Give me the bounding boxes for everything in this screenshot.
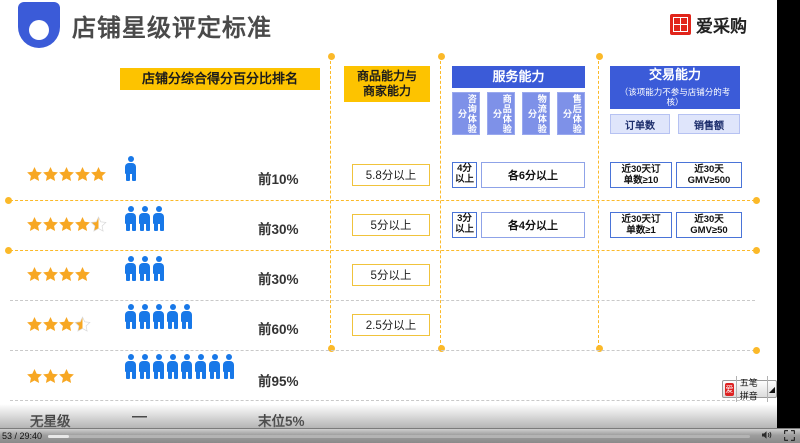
fullscreen-icon[interactable]	[778, 430, 800, 443]
person-icon	[138, 206, 151, 231]
header-trade-ability: 交易能力 （该项能力不参与店铺分的考核）	[610, 66, 740, 109]
star-icon	[58, 216, 75, 233]
header-service-title: 服务能力	[492, 69, 544, 85]
brand-name: 爱采购	[696, 12, 747, 37]
people-icons	[124, 156, 138, 181]
star-icon	[74, 166, 91, 183]
person-icon	[124, 256, 137, 281]
service-consult-requirement: 3分 以上	[452, 212, 477, 238]
person-icon	[208, 354, 221, 379]
screen: 店铺星级评定标准 爱采购 店铺分综合得分百分比排名 商品能力与 商家能力 服务能…	[0, 0, 800, 442]
progress-bar[interactable]	[48, 435, 750, 438]
star-icon	[42, 216, 59, 233]
person-icon	[180, 354, 193, 379]
person-icon	[180, 304, 193, 329]
star-rating	[26, 216, 106, 233]
service-others-requirement: 各6分以上	[481, 162, 585, 188]
no-star-label: 无星级	[30, 410, 71, 428]
star-icon	[42, 166, 59, 183]
person-icon	[124, 304, 137, 329]
person-icon	[194, 354, 207, 379]
star-icon	[42, 316, 59, 333]
star-rating	[26, 368, 74, 385]
row-divider	[10, 250, 755, 251]
ime-toolbar[interactable]: 爱 五笔拼音 ◢	[722, 380, 777, 398]
sub-header-aftersale-score: 售后体验分	[557, 92, 585, 135]
service-consult-requirement: 4分 以上	[452, 162, 477, 188]
presentation-slide: 店铺星级评定标准 爱采购 店铺分综合得分百分比排名 商品能力与 商家能力 服务能…	[0, 0, 777, 428]
trade-order-requirement: 近30天订 单数≥10	[610, 162, 672, 188]
product-requirement: 5分以上	[352, 264, 430, 286]
page-title: 店铺星级评定标准	[72, 8, 272, 43]
product-requirement: 2.5分以上	[352, 314, 430, 336]
row-divider	[10, 350, 755, 351]
person-icon	[152, 256, 165, 281]
table-row: 前60% 2.5分以上	[0, 302, 777, 350]
sub-header-logistics-score: 物流体验分	[522, 92, 550, 135]
header-trade-note: （该项能力不参与店铺分的考核）	[614, 87, 736, 108]
header-service-ability: 服务能力	[452, 66, 585, 88]
star-icon	[74, 266, 91, 283]
ime-logo-icon: 爱	[725, 383, 734, 396]
star-icon	[26, 368, 43, 385]
star-icon	[74, 216, 91, 233]
table-row: 前30% 5分以上 3分 以上 各4分以上 近30天订 单数≥1 近30天 GM…	[0, 202, 777, 250]
person-icon	[166, 354, 179, 379]
row-divider	[10, 400, 755, 401]
ime-mode-label[interactable]: 五笔拼音	[736, 376, 768, 402]
star-icon	[42, 266, 59, 283]
people-icons	[124, 304, 194, 329]
sub-header-order-count: 订单数	[610, 114, 670, 134]
person-icon	[138, 304, 151, 329]
person-icon	[124, 156, 137, 181]
star-icon	[26, 316, 43, 333]
header-trade-title: 交易能力	[649, 67, 701, 83]
row-divider	[10, 200, 755, 201]
trade-gmv-requirement: 近30天 GMV≥50	[676, 212, 742, 238]
star-icon	[90, 166, 107, 183]
star-icon	[58, 368, 75, 385]
star-rating	[26, 166, 106, 183]
brand-logo: 爱采购	[670, 12, 747, 37]
letterbox-right	[777, 0, 800, 428]
person-icon	[152, 206, 165, 231]
star-icon	[58, 316, 75, 333]
rank-percent: 前95%	[258, 370, 299, 390]
person-icon	[124, 354, 137, 379]
sub-header-product-score: 商品体验分	[487, 92, 515, 135]
rank-percent: 末位5%	[258, 410, 305, 428]
person-icon	[222, 354, 235, 379]
sub-header-sales-amount: 销售额	[678, 114, 740, 134]
star-rating	[26, 266, 90, 283]
person-icon	[152, 304, 165, 329]
shield-badge-icon	[18, 2, 60, 48]
table-row: 无星级 — 末位5%	[0, 402, 777, 428]
person-icon	[152, 354, 165, 379]
row-divider	[10, 300, 755, 301]
people-icons	[124, 354, 236, 379]
service-others-requirement: 各4分以上	[481, 212, 585, 238]
trade-order-requirement: 近30天订 单数≥1	[610, 212, 672, 238]
star-icon	[90, 216, 107, 233]
rank-percent: 前60%	[258, 318, 299, 338]
header-product-ability: 商品能力与 商家能力	[344, 66, 430, 102]
ime-expand-icon[interactable]: ◢	[768, 385, 776, 394]
star-icon	[58, 166, 75, 183]
table-row: 前95%	[0, 352, 777, 400]
empty-dash: —	[132, 408, 147, 425]
star-icon	[26, 266, 43, 283]
rank-percent: 前10%	[258, 168, 299, 188]
rank-percent: 前30%	[258, 218, 299, 238]
volume-icon[interactable]	[756, 430, 778, 442]
video-player-controls[interactable]: 53 / 29:40	[0, 428, 800, 443]
table-row: 前30% 5分以上	[0, 252, 777, 300]
star-rating	[26, 316, 90, 333]
people-icons	[124, 206, 166, 231]
product-requirement: 5.8分以上	[352, 164, 430, 186]
table-row: 前10% 5.8分以上 4分 以上 各6分以上 近30天订 单数≥10 近30天…	[0, 152, 777, 200]
rating-criteria-table: 店铺分综合得分百分比排名 商品能力与 商家能力 服务能力 咨询体验分 商品体验分…	[0, 56, 777, 428]
star-icon	[74, 316, 91, 333]
star-icon	[42, 368, 59, 385]
star-icon	[26, 166, 43, 183]
product-requirement: 5分以上	[352, 214, 430, 236]
star-icon	[58, 266, 75, 283]
aicaigou-square-icon	[670, 14, 691, 35]
trade-gmv-requirement: 近30天 GMV≥500	[676, 162, 742, 188]
person-icon	[138, 256, 151, 281]
sub-header-consult-score: 咨询体验分	[452, 92, 480, 135]
person-icon	[124, 206, 137, 231]
rank-percent: 前30%	[258, 268, 299, 288]
header-rank: 店铺分综合得分百分比排名	[120, 68, 320, 90]
person-icon	[138, 354, 151, 379]
playback-time: 53 / 29:40	[0, 431, 42, 441]
person-icon	[166, 304, 179, 329]
star-icon	[26, 216, 43, 233]
people-icons	[124, 256, 166, 281]
